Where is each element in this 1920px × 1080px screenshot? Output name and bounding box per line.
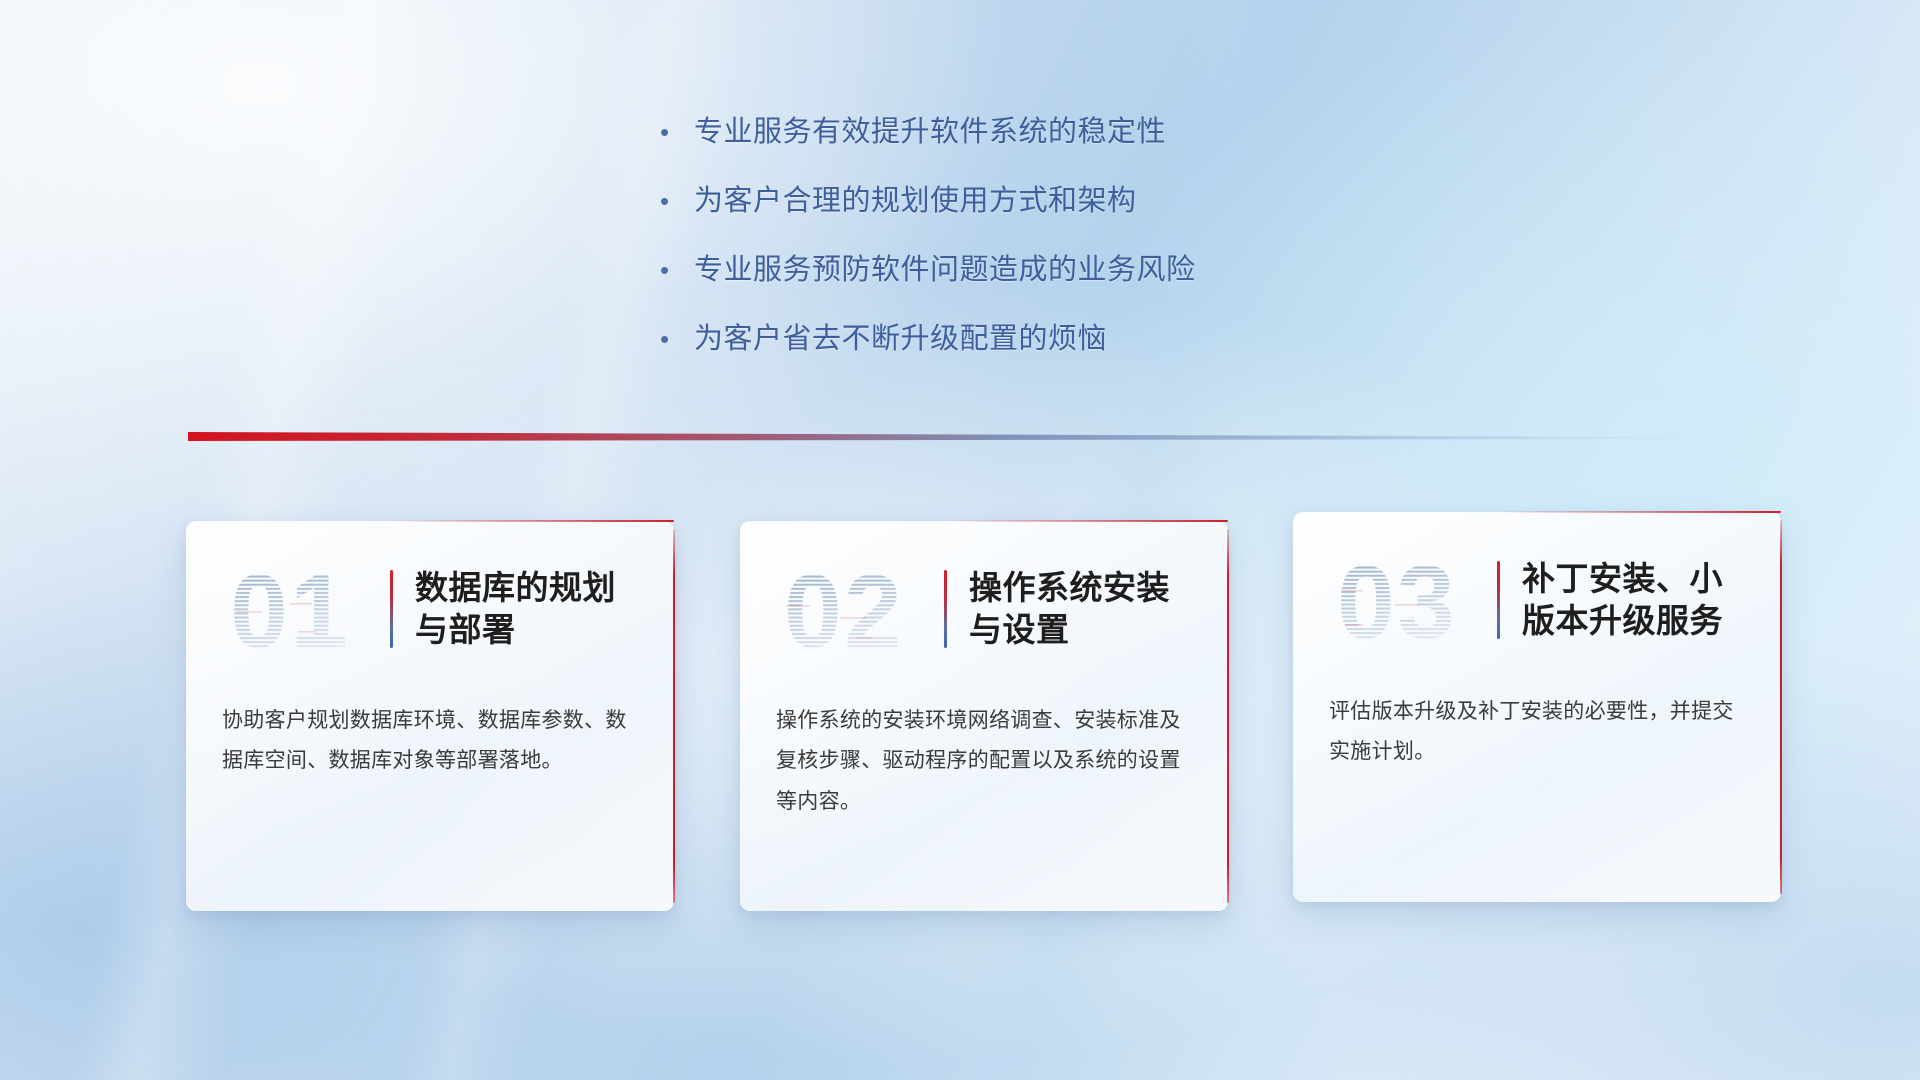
svg-text:02: 02	[784, 555, 904, 663]
service-card-row: 01 数据库的规划与部署 协助客户规划数据库环境、数据库参数、数据库空间、数据库…	[0, 0, 1920, 1080]
card-number-glyph: 02	[782, 555, 930, 663]
svg-text:03: 03	[1337, 546, 1457, 654]
card-header: 01 数据库的规划与部署	[186, 521, 674, 683]
card-header: 03 补丁安装、小版本升级服务	[1293, 512, 1781, 674]
card-title: 补丁安装、小版本升级服务	[1522, 558, 1755, 642]
card-description: 协助客户规划数据库环境、数据库参数、数据库空间、数据库对象等部署落地。	[186, 683, 674, 812]
card-title-rule	[390, 570, 393, 648]
card-title: 操作系统安装与设置	[969, 567, 1202, 651]
card-header: 02 操作系统安装与设置	[740, 521, 1228, 683]
card-title: 数据库的规划与部署	[415, 567, 648, 651]
card-number-glyph: 01	[228, 555, 376, 663]
slide-canvas: • 专业服务有效提升软件系统的稳定性 • 为客户合理的规划使用方式和架构 • 专…	[0, 0, 1920, 1080]
card-number-glyph: 03	[1335, 546, 1483, 654]
card-description: 评估版本升级及补丁安装的必要性，并提交实施计划。	[1293, 674, 1781, 803]
card-title-rule	[1497, 561, 1500, 639]
service-card[interactable]: 03 补丁安装、小版本升级服务 评估版本升级及补丁安装的必要性，并提交实施计划。	[1293, 512, 1781, 902]
card-description: 操作系统的安装环境网络调查、安装标准及复核步骤、驱动程序的配置以及系统的设置等内…	[740, 683, 1228, 852]
service-card[interactable]: 01 数据库的规划与部署 协助客户规划数据库环境、数据库参数、数据库空间、数据库…	[186, 521, 674, 911]
card-title-rule	[944, 570, 947, 648]
service-card[interactable]: 02 操作系统安装与设置 操作系统的安装环境网络调查、安装标准及复核步骤、驱动程…	[740, 521, 1228, 911]
svg-text:01: 01	[230, 555, 350, 663]
